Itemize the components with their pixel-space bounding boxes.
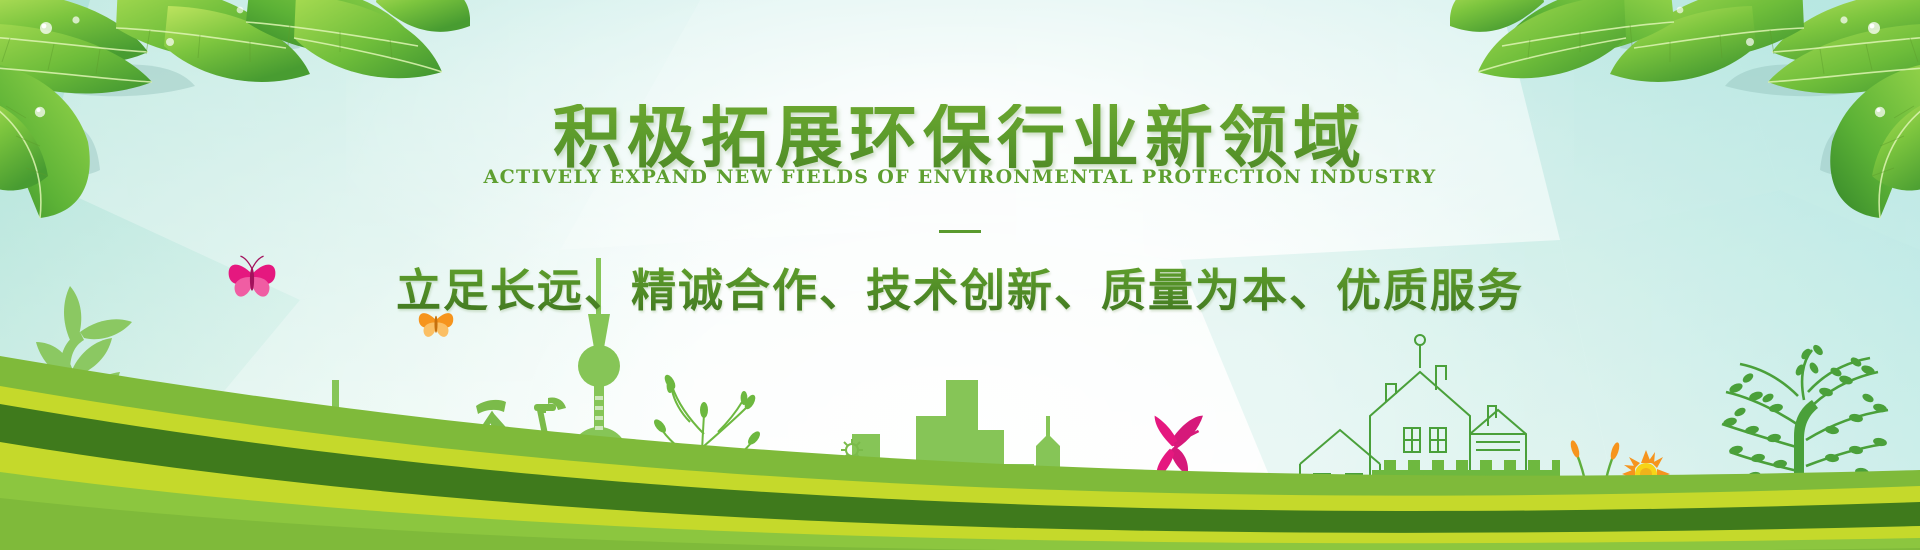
leaf-cluster-top-left (0, 0, 470, 235)
eco-banner: 积极拓展环保行业新领域 ACTIVELY EXPAND NEW FIELDS O… (0, 0, 1920, 550)
leaf-cluster-top-right (1450, 0, 1920, 235)
ribbon-waves (0, 320, 1920, 550)
pink-butterfly (229, 256, 276, 296)
